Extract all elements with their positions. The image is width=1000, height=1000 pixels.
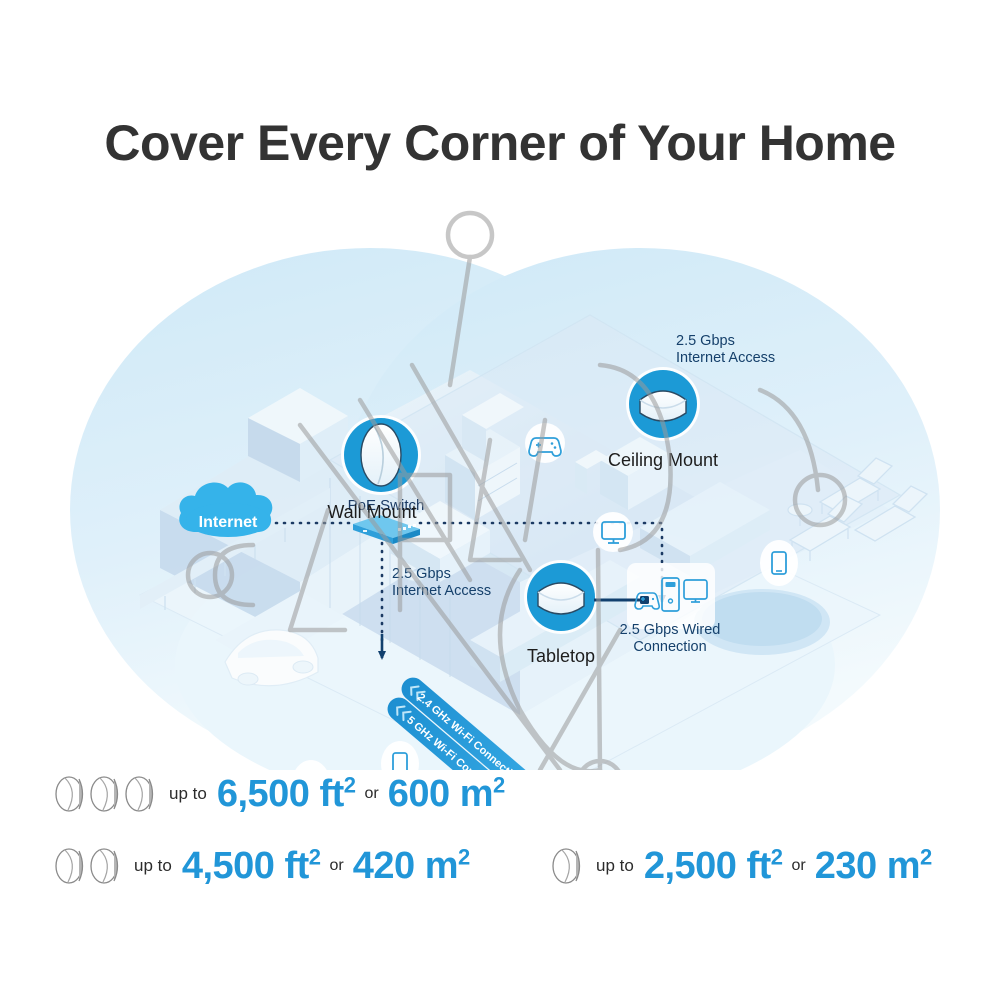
coverage-imperial-3: 2,500 ft2 bbox=[644, 847, 783, 885]
device-icons-2 bbox=[55, 846, 122, 886]
upto-label-3: up to bbox=[596, 856, 634, 876]
ap-device-icon bbox=[552, 846, 584, 886]
coverage-row-1-pack: up to 2,500 ft2 or 230 m2 bbox=[552, 846, 932, 886]
coverage-row-3-pack: up to 6,500 ft2 or 600 m2 bbox=[55, 774, 505, 814]
upto-label-2: up to bbox=[134, 856, 172, 876]
coverage-imperial-2: 4,500 ft2 bbox=[182, 847, 321, 885]
ceiling-speed-line1: 2.5 Gbps bbox=[676, 333, 735, 349]
device-icons-3 bbox=[55, 774, 157, 814]
coverage-summary: up to 6,500 ft2 or 600 m2 bbox=[0, 762, 1000, 922]
coverage-imperial-1: 6,500 ft2 bbox=[217, 775, 356, 813]
or-label-3: or bbox=[792, 857, 806, 875]
client-phone-patio bbox=[760, 540, 798, 586]
page-root: Cover Every Corner of Your Home bbox=[0, 0, 1000, 1000]
page-title: Cover Every Corner of Your Home bbox=[0, 114, 1000, 172]
tabletop-label: Tabletop bbox=[527, 646, 595, 666]
internet-cloud-label: Internet bbox=[199, 514, 258, 531]
upto-label-1: up to bbox=[169, 784, 207, 804]
or-label-1: or bbox=[365, 785, 379, 803]
coverage-metric-3: 230 m2 bbox=[815, 847, 932, 885]
wall-speed-line2: Internet Access bbox=[392, 583, 491, 599]
home-mesh-coverage-diagram: Internet PoE Switch 2.5 Gbps bbox=[0, 210, 1000, 770]
ceiling-speed-line2: Internet Access bbox=[676, 350, 775, 366]
ceiling-mount-ap-icon bbox=[640, 391, 686, 421]
coverage-row-2-pack: up to 4,500 ft2 or 420 m2 bbox=[55, 846, 470, 886]
coverage-metric-2: 420 m2 bbox=[353, 847, 470, 885]
device-icons-1 bbox=[552, 846, 584, 886]
wired-client-panel bbox=[627, 563, 715, 629]
ap-device-icon bbox=[55, 774, 87, 814]
ap-device-icon bbox=[55, 846, 87, 886]
wired-label-line2: Connection bbox=[633, 639, 706, 655]
ap-device-icon bbox=[125, 774, 157, 814]
ap-device-icon bbox=[90, 774, 122, 814]
or-label-2: or bbox=[330, 857, 344, 875]
ap-device-icon bbox=[90, 846, 122, 886]
tabletop-ap[interactable]: Tabletop bbox=[524, 560, 598, 666]
wired-label-line1: 2.5 Gbps Wired bbox=[620, 622, 721, 638]
coverage-metric-1: 600 m2 bbox=[388, 775, 505, 813]
tabletop-ap-icon bbox=[538, 583, 584, 614]
client-monitor bbox=[593, 512, 633, 552]
ceiling-mount-label: Ceiling Mount bbox=[608, 450, 718, 470]
